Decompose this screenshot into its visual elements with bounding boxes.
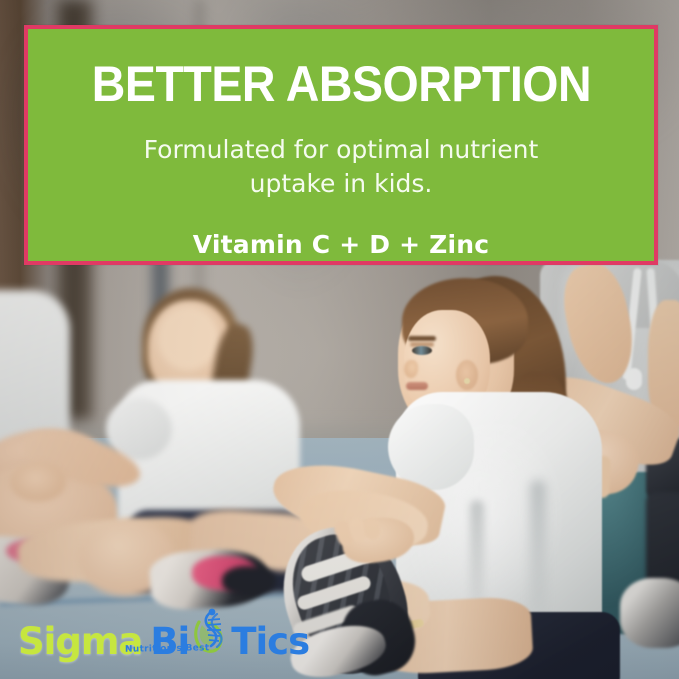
girl-foreground-earring	[464, 378, 470, 384]
girl-foreground-nose	[404, 360, 418, 378]
girl-foreground-sleeve	[388, 404, 474, 490]
brand-tagline: Nutrition's Best	[102, 644, 232, 666]
girl-foreground-lips	[406, 382, 428, 390]
banner-headline: BETTER ABSORPTION	[91, 59, 590, 109]
claim-banner: BETTER ABSORPTION Formulated for optimal…	[24, 25, 658, 265]
child-far-left-shirt	[0, 290, 70, 450]
banner-subtitle: Formulated for optimal nutrient uptake i…	[111, 133, 571, 200]
girl-foreground-ear	[456, 360, 478, 390]
girl-foreground-eye	[412, 346, 432, 355]
coach-shoe	[620, 578, 679, 648]
girl-midground-hand	[10, 462, 66, 502]
banner-nutrient-list: Vitamin C + D + Zinc	[193, 230, 490, 259]
brand-word-tics: Tics	[231, 620, 309, 663]
brand-logo: Sigma Bi	[18, 606, 282, 664]
brand-tagline-text: Nutrition's Best	[125, 643, 210, 654]
product-lifestyle-image: BETTER ABSORPTION Formulated for optimal…	[0, 0, 679, 679]
girl-foreground-eyebrow	[408, 336, 436, 341]
girl-midground-shoe-dark	[222, 566, 276, 596]
coach-hoodie-toggle	[626, 368, 642, 390]
girl-foreground-tshirt-fold-2	[530, 480, 546, 630]
